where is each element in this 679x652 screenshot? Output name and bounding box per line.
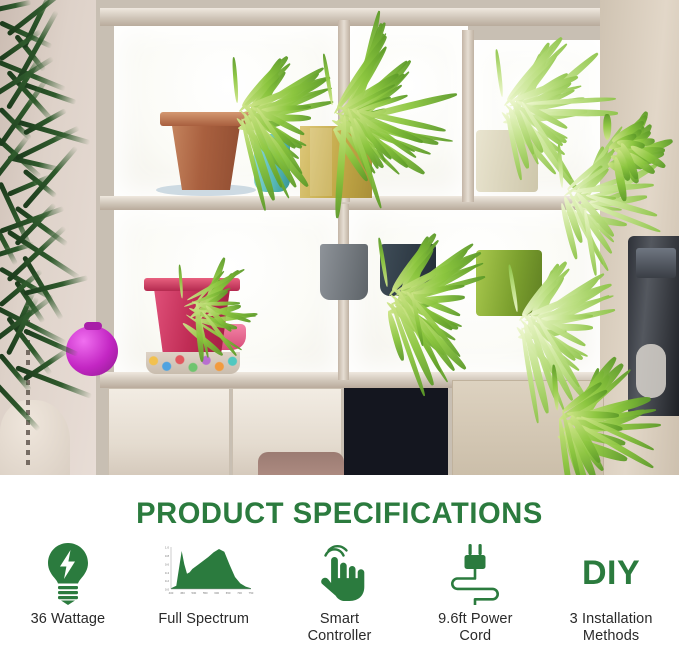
svg-text:500: 500 bbox=[191, 591, 196, 595]
feature-label: 3 InstallationMethods bbox=[570, 611, 653, 645]
dark-spiky-plant bbox=[0, 0, 108, 400]
feature-row: 36 Wattage 1.00.80.60.40.20.040045050055… bbox=[0, 539, 679, 645]
product-photo bbox=[0, 0, 679, 481]
cabinet-drawer-left bbox=[108, 388, 230, 481]
feature-label: SmartController bbox=[308, 611, 372, 645]
feature-label: Full Spectrum bbox=[158, 611, 249, 628]
svg-text:600: 600 bbox=[214, 591, 219, 595]
svg-text:0.6: 0.6 bbox=[165, 562, 170, 566]
feature-spectrum: 1.00.80.60.40.20.04004505005506006507007… bbox=[136, 539, 272, 645]
svg-text:650: 650 bbox=[225, 591, 230, 595]
spectrum-chart-icon: 1.00.80.60.40.20.04004505005506006507007… bbox=[154, 539, 254, 607]
svg-text:450: 450 bbox=[180, 591, 185, 595]
feature-controller: SmartController bbox=[272, 539, 408, 645]
svg-text:750: 750 bbox=[248, 591, 253, 595]
svg-text:0.8: 0.8 bbox=[165, 554, 170, 558]
spider-plant-top-center bbox=[250, 18, 440, 228]
power-plug-cord-icon bbox=[444, 539, 506, 607]
diy-text-icon: DIY bbox=[582, 539, 640, 607]
spider-plant-bottom-left bbox=[120, 240, 270, 390]
feature-label: 9.6ft PowerCord bbox=[438, 611, 512, 645]
svg-text:0.4: 0.4 bbox=[165, 571, 170, 575]
svg-text:550: 550 bbox=[203, 591, 208, 595]
feature-label: 36 Wattage bbox=[31, 611, 106, 628]
armchair-edge bbox=[0, 400, 70, 481]
touch-hand-icon bbox=[312, 539, 366, 607]
feature-wattage: 36 Wattage bbox=[0, 539, 136, 645]
diy-label: DIY bbox=[582, 554, 640, 593]
svg-text:0.2: 0.2 bbox=[165, 579, 170, 583]
feature-installation: DIY 3 InstallationMethods bbox=[543, 539, 679, 645]
lightbulb-icon bbox=[43, 539, 93, 607]
pothos-vine-right bbox=[560, 10, 679, 310]
svg-text:400: 400 bbox=[168, 591, 173, 595]
feature-power-cord: 9.6ft PowerCord bbox=[407, 539, 543, 645]
svg-text:700: 700 bbox=[237, 591, 242, 595]
product-infographic: PRODUCT SPECIFICATIONS 36 Wattage bbox=[0, 0, 679, 652]
page-title: PRODUCT SPECIFICATIONS bbox=[10, 497, 669, 531]
svg-text:1.0: 1.0 bbox=[165, 546, 170, 550]
product-specifications-panel: PRODUCT SPECIFICATIONS 36 Wattage bbox=[0, 481, 679, 652]
spider-plant-foreground bbox=[470, 360, 670, 481]
